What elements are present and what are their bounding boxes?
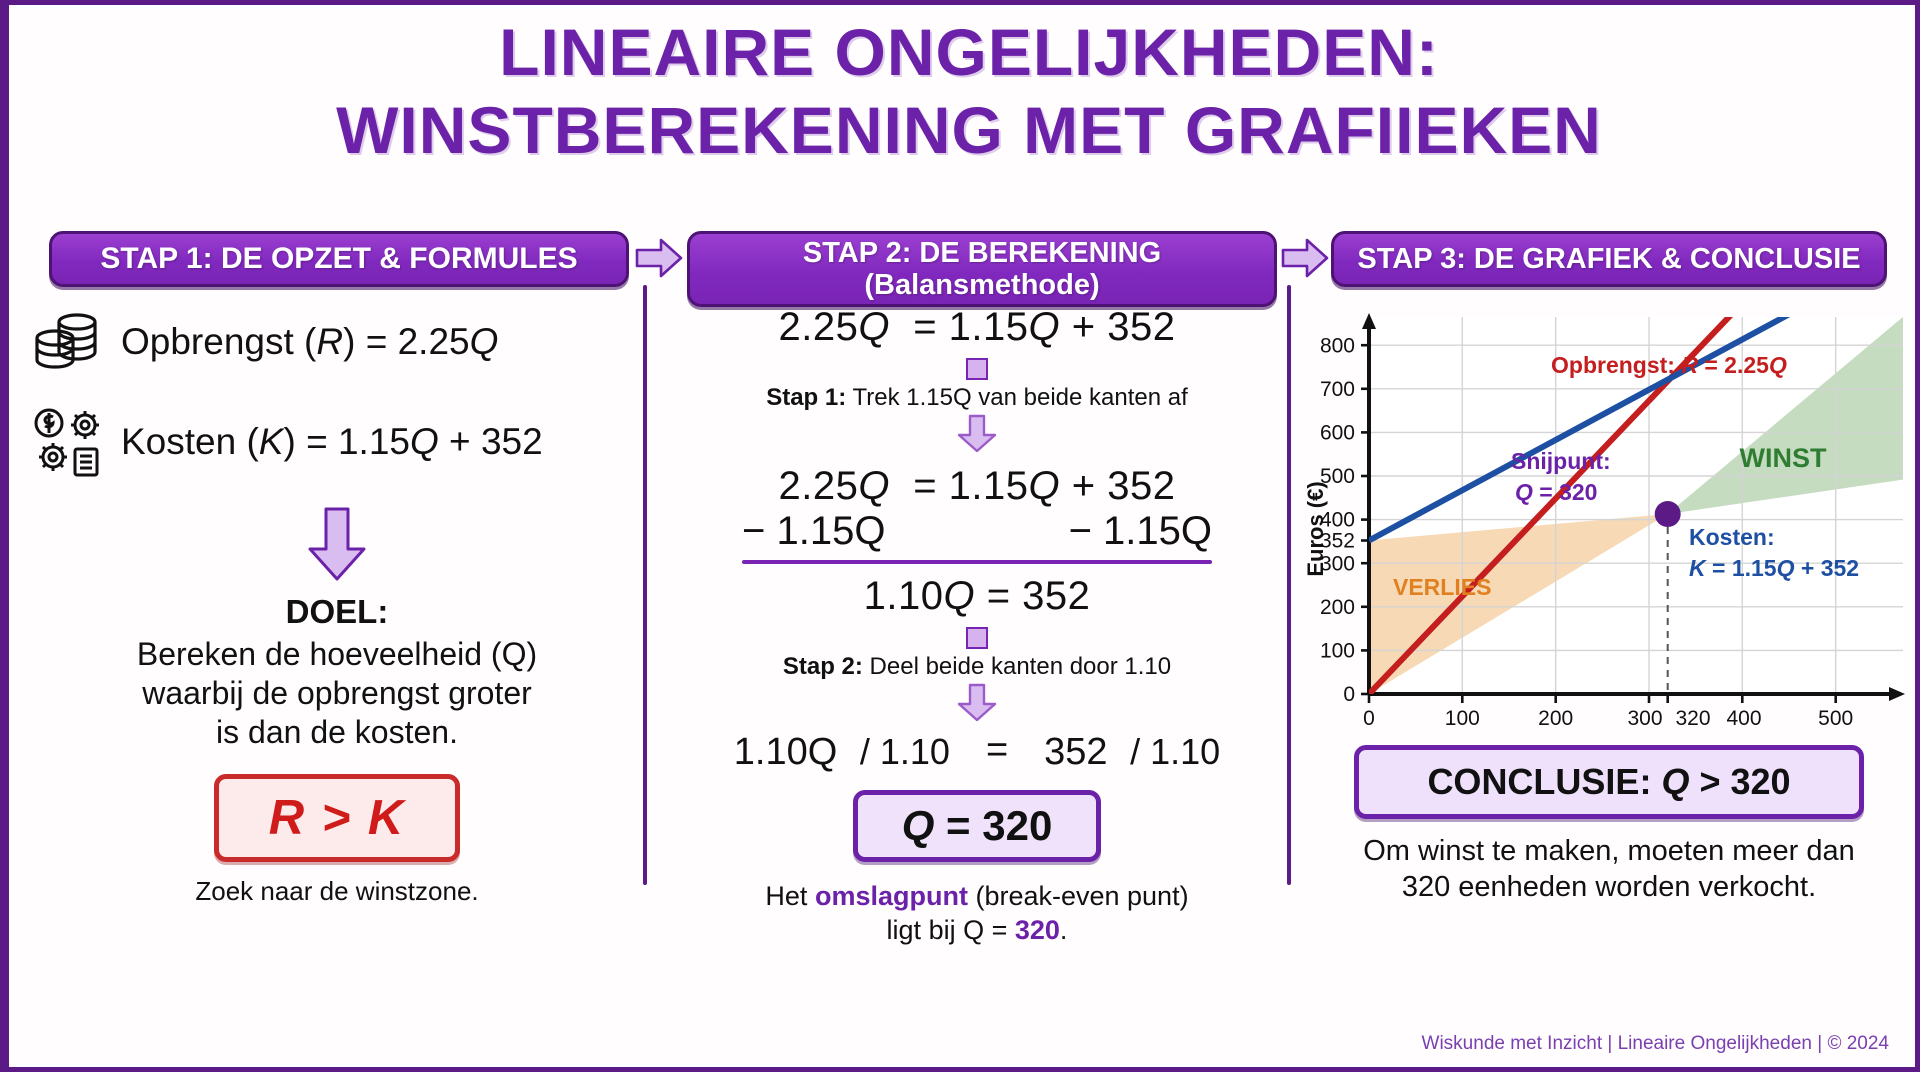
revenue-label: Opbrengst: R = 2.25Q: [1551, 352, 1787, 378]
step-note-1-rest: Trek 1.15Q van beide kanten af: [846, 384, 1188, 411]
connector-square: [966, 627, 988, 649]
inequality-badge: R > K: [214, 774, 460, 862]
step-1-header: STAP 1: DE OPZET & FORMULES: [49, 231, 629, 287]
y-axis-label: Euros (€): [1303, 481, 1328, 576]
step-2-header: STAP 2: DE BEREKENING (Balansmethode): [687, 231, 1277, 307]
arrow-right-icon: [1281, 237, 1329, 279]
step-note-1-label: Stap 1:: [766, 384, 846, 411]
page-title: LINEAIRE ONGELIJKHEDEN: WINSTBEREKENING …: [9, 19, 1920, 163]
cost-label-line2: K = 1.15Q + 352: [1689, 555, 1859, 581]
intersection-marker: [1655, 501, 1681, 527]
equation-3: 1.10Q = 352: [669, 574, 1285, 619]
goal-line-1: Bereken de hoeveelheid (Q): [31, 635, 643, 674]
breakeven-bold: omslagpunt: [815, 881, 968, 911]
svg-text:200: 200: [1538, 707, 1573, 729]
step-1-content: Opbrengst (R) = 2.25Q Kosten (K) = 1.15Q: [31, 305, 643, 907]
revenue-formula-row: Opbrengst (R) = 2.25Q: [31, 305, 643, 379]
svg-text:0: 0: [1343, 683, 1355, 706]
subtract-left: − 1.15Q: [742, 509, 885, 554]
fraction-left-denominator: / 1.10: [854, 731, 956, 772]
breakeven-pre: Het: [765, 881, 815, 911]
cost-gears-dollar-icon: [31, 405, 105, 479]
step-note-2: Stap 2: Deel beide kanten door 1.10: [669, 653, 1285, 681]
title-line-2: WINSTBEREKENING MET GRAFIIEKEN: [9, 97, 1920, 163]
conclusion-text: CONCLUSIE: Q > 320: [1427, 761, 1790, 803]
svg-text:320: 320: [1675, 707, 1710, 729]
goal-line-3: is dan de kosten.: [31, 713, 643, 752]
inequality-caption: Zoek naar de winstzone.: [31, 876, 643, 907]
breakeven-line2-pre: ligt bij Q =: [887, 915, 1015, 945]
svg-text:400: 400: [1726, 707, 1761, 729]
conclusion-sub-line-2: 320 eenheden worden verkocht.: [1297, 869, 1920, 905]
arrow-right-icon: [635, 237, 683, 279]
svg-text:300: 300: [1627, 707, 1662, 729]
breakeven-line2-post: .: [1060, 915, 1068, 945]
fraction-left-numerator: 1.10Q: [728, 731, 844, 773]
column-divider: [1287, 285, 1291, 885]
intersection-label-line1: Snijpunt:: [1511, 448, 1611, 474]
arrow-down-icon: [955, 683, 999, 723]
goal-line-2: waarbij de opbrengst groter: [31, 674, 643, 713]
arrow-down-icon: [955, 414, 999, 454]
profit-region-label: WINST: [1740, 443, 1827, 473]
subtract-right: − 1.15Q: [1069, 509, 1212, 554]
connector-square: [966, 358, 988, 380]
svg-text:200: 200: [1320, 596, 1355, 619]
step-2-content: 2.25Q = 1.15Q + 352 Stap 1: Trek 1.15Q v…: [669, 305, 1285, 948]
balance-block: 2.25Q = 1.15Q + 352 − 1.15Q − 1.15Q: [742, 464, 1212, 574]
cost-label-line1: Kosten:: [1689, 524, 1775, 550]
svg-text:0: 0: [1363, 707, 1375, 729]
breakeven-line-2: ligt bij Q = 320.: [669, 914, 1285, 948]
fraction-right-denominator: / 1.10: [1124, 731, 1226, 772]
svg-text:600: 600: [1320, 422, 1355, 445]
breakeven-line-1: Het omslagpunt (break-even punt): [669, 880, 1285, 914]
svg-text:500: 500: [1818, 707, 1853, 729]
balance-rule: [742, 560, 1212, 564]
goal-body: Bereken de hoeveelheid (Q) waarbij de op…: [31, 635, 643, 752]
breakeven-value: 320: [1015, 915, 1060, 945]
division-row: 1.10Q / 1.10 = 352 / 1.10: [728, 731, 1226, 774]
division-block: 1.10Q / 1.10 = 352 / 1.10: [728, 731, 1226, 774]
step-note-1: Stap 1: Trek 1.15Q van beide kanten af: [669, 384, 1285, 412]
breakeven-chart: 0 100 200 300 352 400 500 600 700 800 0 …: [1301, 299, 1913, 729]
intersection-label-line2: Q = 320: [1515, 479, 1597, 505]
svg-text:100: 100: [1445, 707, 1480, 729]
fraction-right-numerator: 352: [1038, 731, 1113, 773]
svg-text:800: 800: [1320, 334, 1355, 357]
infographic-poster: LINEAIRE ONGELIJKHEDEN: WINSTBEREKENING …: [0, 0, 1920, 1072]
breakeven-note: Het omslagpunt (break-even punt) ligt bi…: [669, 880, 1285, 948]
division-equals: =: [986, 731, 1008, 771]
step-2-header-line-2: (Balansmethode): [803, 269, 1161, 301]
inequality-text: R > K: [269, 790, 406, 846]
breakeven-mid: (break-even punt): [968, 881, 1189, 911]
conclusion-badge: CONCLUSIE: Q > 320: [1354, 745, 1864, 819]
conclusion-sub-line-1: Om winst te maken, moeten meer dan: [1297, 833, 1920, 869]
arrow-down-icon: [302, 505, 372, 583]
step-note-2-label: Stap 2:: [783, 653, 863, 680]
cost-formula-row: Kosten (K) = 1.15Q + 352: [31, 405, 643, 479]
revenue-formula-text: Opbrengst (R) = 2.25Q: [121, 321, 498, 363]
coins-stack-icon: [31, 305, 105, 379]
equation-1: 2.25Q = 1.15Q + 352: [669, 305, 1285, 350]
fraction-left: 1.10Q / 1.10: [728, 731, 956, 774]
footer-credit: Wiskunde met Inzicht | Lineaire Ongelijk…: [1422, 1033, 1889, 1055]
svg-text:100: 100: [1320, 640, 1355, 663]
x-tick-labels: 0 100 200 300 320 400 500: [1363, 707, 1853, 729]
chart-svg: 0 100 200 300 352 400 500 600 700 800 0 …: [1301, 299, 1913, 729]
step-2-header-line-1: STAP 2: DE BEREKENING: [803, 237, 1161, 269]
conclusion-subtext: Om winst te maken, moeten meer dan 320 e…: [1297, 833, 1920, 906]
goal-title: DOEL:: [31, 593, 643, 631]
loss-region-label: VERLIES: [1393, 574, 1491, 600]
cost-formula-text: Kosten (K) = 1.15Q + 352: [121, 421, 543, 463]
answer-text: Q = 320: [902, 802, 1053, 850]
subtraction-row: − 1.15Q − 1.15Q: [742, 509, 1212, 554]
step-3-header: STAP 3: DE GRAFIEK & CONCLUSIE: [1331, 231, 1887, 287]
equation-2: 2.25Q = 1.15Q + 352: [742, 464, 1212, 509]
step-3-content: 0 100 200 300 352 400 500 600 700 800 0 …: [1297, 299, 1920, 906]
title-line-1: LINEAIRE ONGELIJKHEDEN:: [9, 19, 1920, 85]
step-note-2-rest: Deel beide kanten door 1.10: [863, 653, 1171, 680]
svg-text:700: 700: [1320, 378, 1355, 401]
column-divider: [643, 285, 647, 885]
answer-badge: Q = 320: [853, 790, 1101, 862]
fraction-right: 352 / 1.10: [1038, 731, 1226, 774]
